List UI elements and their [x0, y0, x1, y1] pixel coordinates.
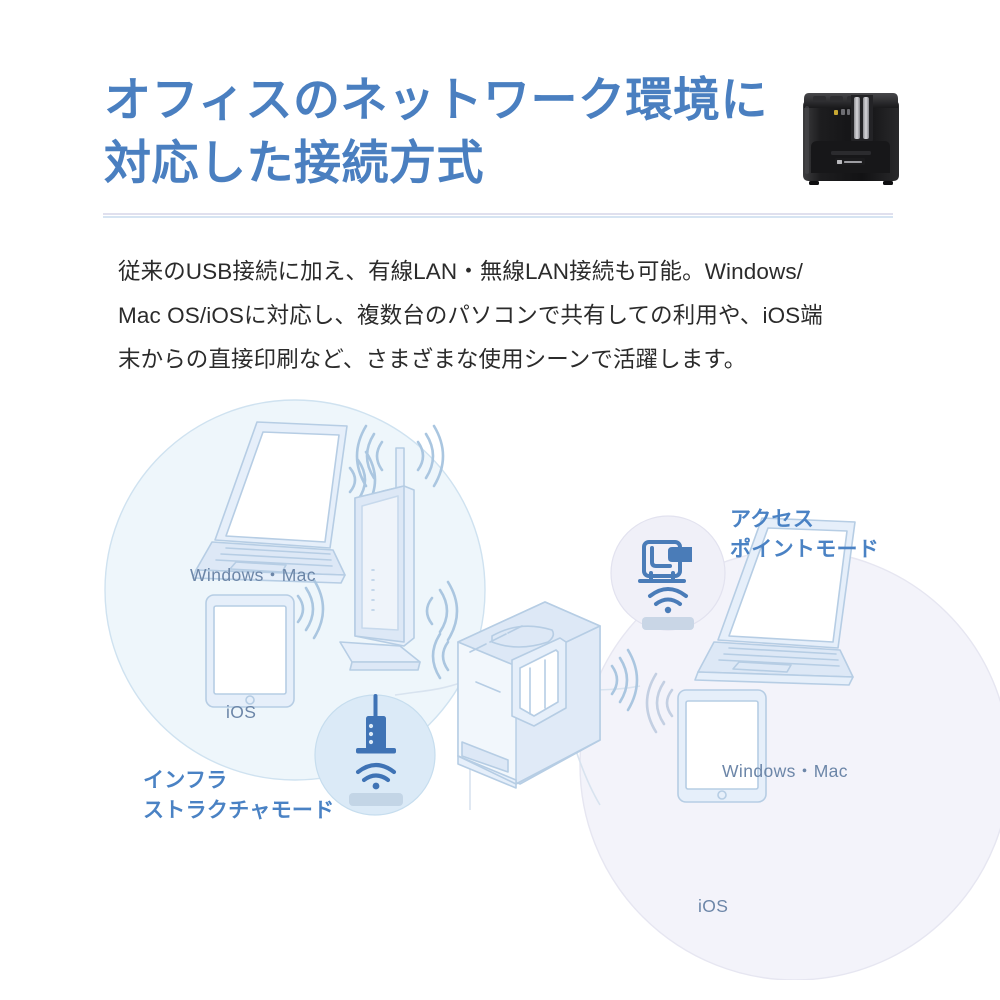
divider-rule-lower: [103, 216, 893, 218]
printer-wifi-badge: [611, 516, 725, 630]
tablet-illustration-left: [206, 595, 294, 707]
divider-rule-upper: [103, 213, 893, 215]
network-diagram: .ln { fill:none; stroke:#b6cde4; stroke-…: [0, 390, 1000, 980]
device-label-ios-left: iOS: [226, 702, 256, 723]
mode-label-infrastructure: インフラ ストラクチャモード: [143, 766, 335, 827]
mode-label-access-point: アクセス ポイントモード: [730, 505, 879, 566]
device-label-ios-right: iOS: [698, 896, 728, 917]
page-title: オフィスのネットワーク環境に 対応した接続方式: [104, 68, 804, 195]
product-photo: [795, 75, 907, 193]
page-root: オフィスのネットワーク環境に 対応した接続方式: [0, 0, 1000, 1000]
device-label-windows-mac-left: Windows・Mac: [190, 562, 316, 587]
device-label-windows-mac-right: Windows・Mac: [722, 758, 848, 783]
body-paragraph: 従来のUSB接続に加え、有線LAN・無線LAN接続も可能。Windows/ Ma…: [118, 250, 908, 382]
header-divider: [103, 213, 893, 218]
tablet-illustration-right: [678, 690, 766, 802]
